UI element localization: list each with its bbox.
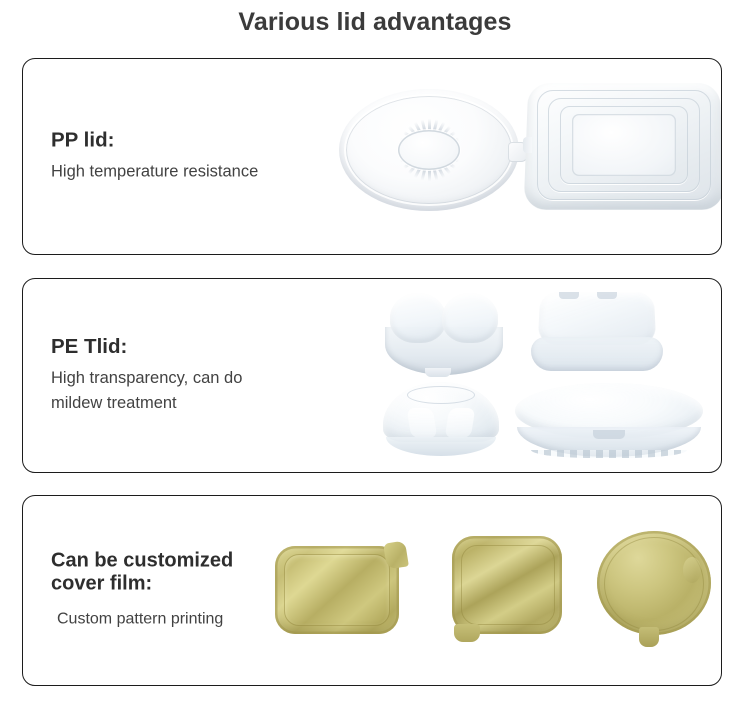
pp-rectangular-lid-image (526, 81, 722, 209)
panel-pp-lid-description: High temperature resistance (51, 159, 336, 185)
panel-custom-cover-film: Can be customized cover film: Custom pat… (22, 495, 722, 686)
panel-pe-lid: PE Tlid: High transparency, can do milde… (22, 278, 722, 473)
pe-dome-lid-image (383, 382, 499, 456)
pe-oval-lid-image (515, 383, 703, 459)
panel-pp-lid-text: PP lid: High temperature resistance (51, 128, 336, 185)
panel-pe-lid-images (323, 279, 721, 472)
panel-pp-lid: PP lid: High temperature resistance (22, 58, 722, 255)
gold-square-foil-lid-image (448, 536, 566, 644)
pe-heart-lid-image (383, 291, 505, 375)
pp-round-lid-image (339, 89, 519, 211)
page-title: Various lid advantages (0, 8, 750, 37)
panel-pe-lid-text: PE Tlid: High transparency, can do milde… (51, 334, 336, 416)
panel-pe-lid-heading: PE Tlid: (51, 334, 336, 358)
panel-pp-lid-heading: PP lid: (51, 128, 336, 152)
gold-round-foil-lid-image (597, 531, 711, 647)
panel-pp-lid-images (323, 59, 721, 254)
pe-square-lid-image (531, 289, 663, 373)
gold-rectangular-foil-lid-image (275, 540, 407, 636)
panel-custom-cover-film-images (323, 496, 721, 685)
panel-pe-lid-description: High transparency, can do mildew treatme… (51, 366, 336, 417)
